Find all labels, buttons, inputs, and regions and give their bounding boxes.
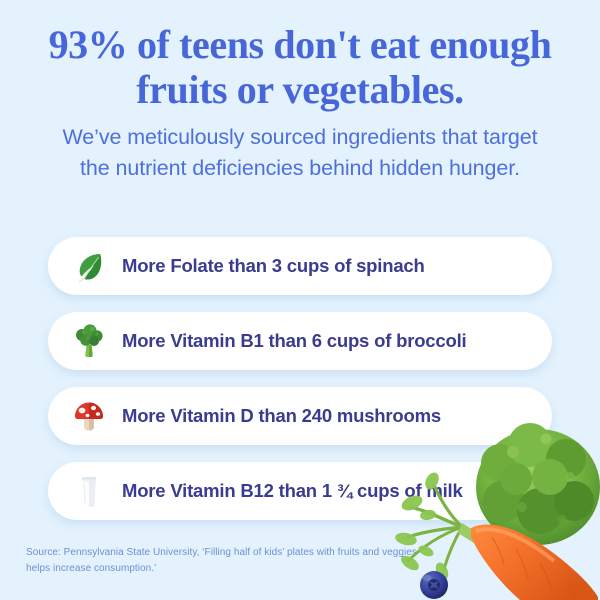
benefit-card-vitamin-b12: More Vitamin B12 than 1 ¾ cups of milk	[48, 462, 552, 520]
benefit-card-label: More Folate than 3 cups of spinach	[122, 255, 425, 277]
benefit-card-label: More Vitamin B12 than 1 ¾ cups of milk	[122, 480, 463, 502]
benefit-card-label: More Vitamin D than 240 mushrooms	[122, 405, 441, 427]
benefit-card-vitamin-b1: More Vitamin B1 than 6 cups of broccoli	[48, 312, 552, 370]
subheading: We’ve meticulously sourced ingredients t…	[52, 122, 548, 183]
leafy-green-icon	[70, 247, 108, 285]
glass-of-milk-icon	[70, 472, 108, 510]
benefit-card-vitamin-d: More Vitamin D than 240 mushrooms	[48, 387, 552, 445]
benefit-card-list: More Folate than 3 cups of spinach	[48, 237, 552, 520]
headline-line-2: fruits or vegetables.	[18, 67, 582, 112]
benefit-card-folate: More Folate than 3 cups of spinach	[48, 237, 552, 295]
broccoli-icon	[70, 322, 108, 360]
mushroom-icon	[70, 397, 108, 435]
benefit-card-label: More Vitamin B1 than 6 cups of broccoli	[122, 330, 466, 352]
source-citation: Source: Pennsylvania State University, ‘…	[26, 545, 426, 576]
infographic-poster: 93% of teens don't eat enough fruits or …	[0, 0, 600, 600]
page-title: 93% of teens don't eat enough fruits or …	[18, 22, 582, 112]
headline-line-1: 93% of teens don't eat enough	[18, 22, 582, 67]
